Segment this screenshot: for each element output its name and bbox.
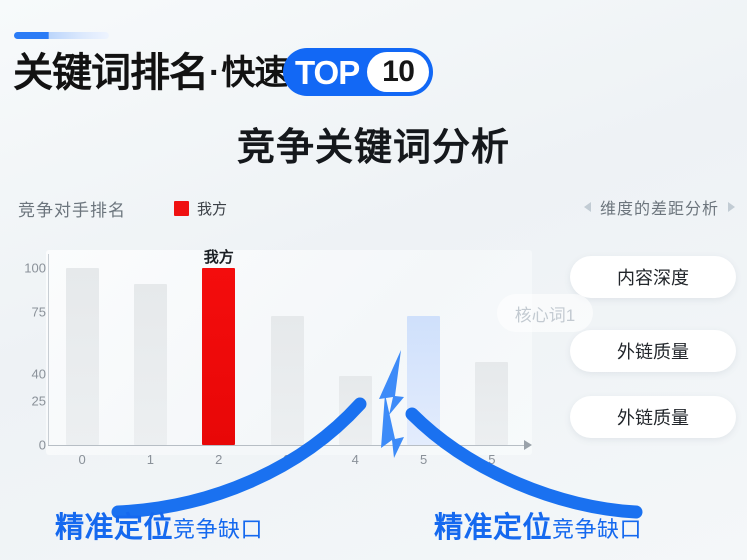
y-axis-tick-label: 40 xyxy=(4,367,46,382)
bar-chart: 0254075100 012我方3455 xyxy=(0,240,560,490)
y-axis: 0254075100 xyxy=(0,240,46,455)
bar-competitor xyxy=(271,316,304,445)
y-axis-tick-label: 0 xyxy=(4,438,46,453)
x-axis-tick-label: 0 xyxy=(79,452,86,467)
dimension-pill-label: 外链质量 xyxy=(617,338,689,364)
top-badge-word: TOP xyxy=(293,56,367,89)
core-keyword-ghost-pill: 核心词1 xyxy=(497,294,593,332)
bar-competitor xyxy=(407,316,440,445)
caption-right-weak: 竞争缺口 xyxy=(552,512,642,544)
x-axis-line xyxy=(48,445,526,446)
legend-entry-label: 我方 xyxy=(197,198,227,219)
bar-mine-caption: 我方 xyxy=(204,246,234,267)
legend-entry-mine: 我方 xyxy=(174,198,227,219)
x-axis-tick-label: 1 xyxy=(147,452,154,467)
chevron-left-icon[interactable] xyxy=(584,202,591,212)
caption-right-strong: 精准定位 xyxy=(434,504,552,546)
legend-swatch-icon xyxy=(174,201,189,216)
x-axis-tick-label: 4 xyxy=(352,452,359,467)
y-axis-tick-label: 25 xyxy=(4,393,46,408)
x-axis-tick-label: 2 xyxy=(215,452,222,467)
page-title: 竞争关键词分析 xyxy=(0,116,747,171)
core-keyword-label: 核心词1 xyxy=(515,301,575,326)
dimension-pill-label: 外链质量 xyxy=(617,404,689,430)
headline-sub-text: 快速 xyxy=(221,56,287,90)
caption-left-weak: 竞争缺口 xyxy=(173,512,263,544)
dimension-panel-header: 维度的差距分析 xyxy=(584,195,735,219)
top-badge-number: 10 xyxy=(367,52,429,92)
bar-mine xyxy=(202,268,235,445)
top-rank-badge: TOP 10 xyxy=(283,48,433,96)
accent-progress-bar xyxy=(14,32,109,39)
dimension-pill[interactable]: 外链质量 xyxy=(570,396,736,438)
caption-right: 精准定位 竞争缺口 xyxy=(434,504,642,546)
bar-competitor xyxy=(134,284,167,445)
bar-competitor xyxy=(339,376,372,445)
x-axis-tick-label: 5 xyxy=(420,452,427,467)
bars-layer xyxy=(48,254,526,445)
y-axis-tick-label: 75 xyxy=(4,305,46,320)
caption-left: 精准定位 竞争缺口 xyxy=(55,504,263,546)
headline: 关键词排名 · 快速 xyxy=(13,46,287,100)
headline-separator-dot: · xyxy=(209,54,220,93)
bar-competitor xyxy=(66,268,99,445)
headline-main-text: 关键词排名 xyxy=(13,53,208,93)
legend-title: 竞争对手排名 xyxy=(18,196,126,221)
x-axis-tick-label: 3 xyxy=(283,452,290,467)
bar-competitor xyxy=(475,362,508,445)
dimension-pill[interactable]: 外链质量 xyxy=(570,330,736,372)
x-axis-tick-label: 5 xyxy=(488,452,495,467)
chart-legend: 竞争对手排名 我方 xyxy=(18,196,227,221)
dimension-panel-title: 维度的差距分析 xyxy=(600,195,719,219)
y-axis-tick-label: 100 xyxy=(4,261,46,276)
dimension-pill[interactable]: 内容深度 xyxy=(570,256,736,298)
dimension-pill-label: 内容深度 xyxy=(617,264,689,290)
chevron-right-icon[interactable] xyxy=(728,202,735,212)
caption-left-strong: 精准定位 xyxy=(55,504,173,546)
